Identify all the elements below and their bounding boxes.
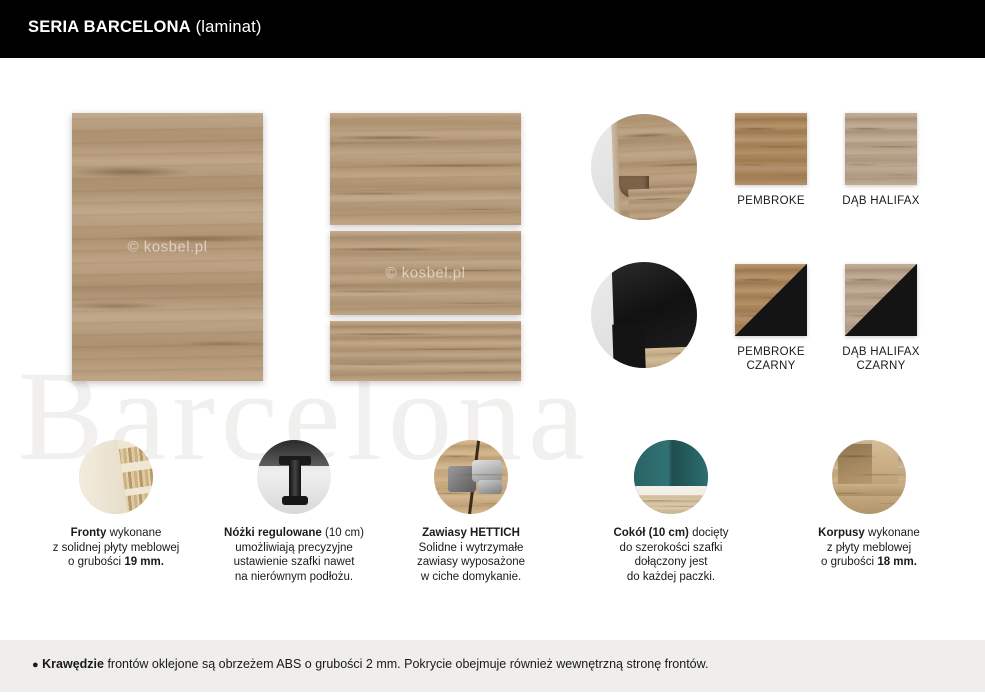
swatch-pembroke-czarny[interactable]: PEMBROKE CZARNY (735, 264, 835, 373)
caption-text: wykonane (865, 527, 920, 539)
caption-bold: 19 mm. (124, 556, 164, 568)
carcass-shelf (832, 484, 906, 497)
hinge-door-seam (466, 440, 481, 514)
carcass-icon (832, 440, 906, 514)
floor-surface (634, 495, 708, 514)
swatch-label: DĄB HALIFAX CZARNY (831, 345, 931, 373)
swatch-dab-halifax-czarny[interactable]: DĄB HALIFAX CZARNY (845, 264, 945, 373)
carcass-base (832, 496, 906, 514)
hinge-plate (478, 480, 502, 494)
caption-text: zawiasy wyposażone (417, 556, 525, 568)
feature-caption: Zawiasy HETTICH Solidne i wytrzymałe zaw… (373, 526, 569, 584)
carcass-side-panel (872, 440, 898, 496)
caption-bold: Fronty (71, 527, 107, 539)
caption-text: umożliwiają precyzyjne (235, 542, 353, 554)
caption-bold: Zawiasy HETTICH (422, 527, 520, 539)
hinge-arm (448, 466, 476, 492)
detail-photo-wood-handle (591, 114, 697, 220)
caption-text: docięty (689, 527, 729, 539)
drawer-front-bottom (330, 321, 521, 381)
drawer-front-middle: © kosbel.pl (330, 231, 521, 315)
hinge-icon (434, 440, 508, 514)
caption-text: o grubości (821, 556, 877, 568)
caption-bold: Cokół (10 cm) (613, 527, 688, 539)
swatch-label: PEMBROKE CZARNY (721, 345, 821, 373)
page-title-series: SERIA BARCELONA (28, 18, 191, 36)
caption-text: na nierównym podłożu. (235, 571, 353, 583)
caption-text: z solidnej płyty meblowej (53, 542, 180, 554)
caption-bold: Korpusy (818, 527, 865, 539)
feature-caption: Cokół (10 cm) docięty do szerokości szaf… (573, 526, 769, 584)
photo-watermark: © kosbel.pl (72, 239, 263, 256)
feature-nozki: Nóżki regulowane (10 cm) umożliwiają pre… (196, 440, 392, 584)
caption-bold: 18 mm. (877, 556, 917, 568)
detail-photo-black-handle (591, 262, 697, 368)
drawer-front-top (330, 113, 521, 225)
swatch-label-line2: CZARNY (746, 360, 795, 372)
caption-text: o grubości (68, 556, 124, 568)
product-drawer-fronts: © kosbel.pl (330, 113, 521, 381)
footer-note-text: frontów oklejone są obrzeżem ABS o grubo… (104, 657, 708, 671)
plinth-icon (634, 440, 708, 514)
caption-text: Solidne i wytrzymałe (419, 542, 524, 554)
swatch-label-line1: PEMBROKE (737, 346, 805, 358)
adjustable-leg-icon (257, 440, 331, 514)
black-handle-edge (612, 323, 646, 368)
feature-korpusy: Korpusy wykonane z płyty meblowej o grub… (771, 440, 967, 570)
page-title: SERIA BARCELONA (laminat) (28, 18, 262, 37)
caption-bold: Nóżki regulowane (224, 527, 322, 539)
hinge-cup (472, 460, 502, 482)
swatch-label: PEMBROKE (721, 194, 821, 208)
caption-text: do szerokości szafki (620, 542, 723, 554)
leg-foot (282, 496, 308, 505)
swatch-color-chip (845, 264, 917, 336)
swatch-pembroke[interactable]: PEMBROKE (735, 113, 835, 208)
caption-text: (10 cm) (322, 527, 364, 539)
caption-text: do każdej paczki. (627, 571, 715, 583)
feature-caption: Fronty wykonane z solidnej płyty meblowe… (18, 526, 214, 570)
photo-watermark: © kosbel.pl (330, 265, 521, 282)
swatch-dab-halifax[interactable]: DĄB HALIFAX (845, 113, 945, 208)
swatch-label: DĄB HALIFAX (831, 194, 931, 208)
footer-note: ● Krawędzie frontów oklejone są obrzeżem… (32, 657, 708, 671)
swatch-color-chip (845, 113, 917, 185)
carcass-interior (838, 444, 878, 484)
caption-text: z płyty meblowej (827, 542, 911, 554)
feature-fronty: Fronty wykonane z solidnej płyty meblowe… (18, 440, 214, 570)
swatch-label-line1: DĄB HALIFAX (842, 346, 919, 358)
feature-cokol: Cokół (10 cm) docięty do szerokości szaf… (573, 440, 769, 584)
bullet-icon: ● (32, 659, 39, 671)
caption-text: wykonane (106, 527, 161, 539)
caption-text: ustawienie szafki nawet (234, 556, 355, 568)
black-triangle-overlay (735, 264, 807, 336)
product-door-front: © kosbel.pl (72, 113, 263, 381)
footer-note-bold: Krawędzie (42, 657, 104, 671)
page-title-suffix: (laminat) (191, 18, 262, 36)
caption-text: dołączony jest (635, 556, 708, 568)
swatch-color-chip (735, 113, 807, 185)
handle-shelf (628, 187, 697, 220)
feature-caption: Korpusy wykonane z płyty meblowej o grub… (771, 526, 967, 570)
feature-zawiasy: Zawiasy HETTICH Solidne i wytrzymałe zaw… (373, 440, 569, 584)
leg-post (289, 460, 301, 500)
cabinet-wall (634, 440, 708, 488)
swatch-color-chip (735, 264, 807, 336)
caption-text: w ciche domykanie. (421, 571, 521, 583)
feature-caption: Nóżki regulowane (10 cm) umożliwiają pre… (196, 526, 392, 584)
black-triangle-overlay (845, 264, 917, 336)
swatch-label-line2: CZARNY (856, 360, 905, 372)
content-stage: © kosbel.pl © kosbel.pl PEMBROKE DĄB HAL… (0, 58, 985, 640)
chipboard-icon (79, 440, 153, 514)
feature-row: Fronty wykonane z solidnej płyty meblowe… (0, 440, 985, 640)
